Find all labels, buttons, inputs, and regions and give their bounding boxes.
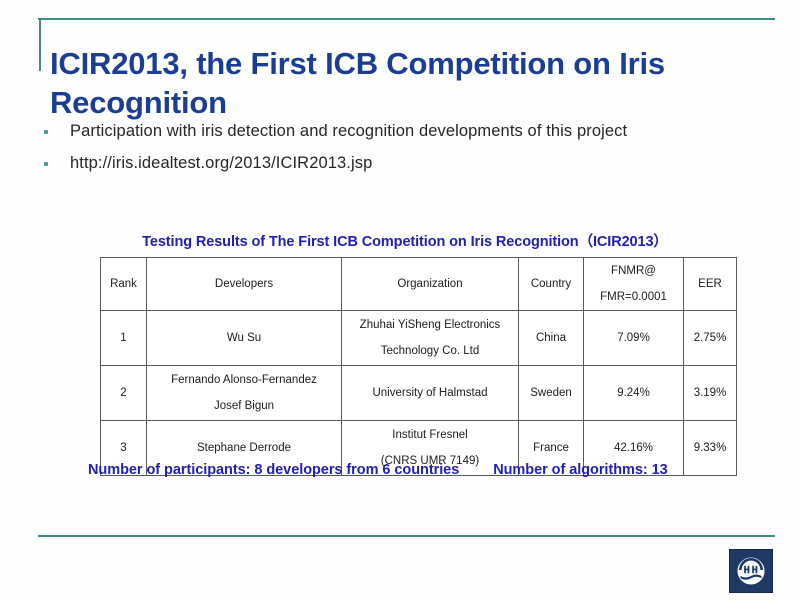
organization-line-1: University of Halmstad (344, 385, 516, 402)
table-header-row: Rank Developers Organization Country FNM… (101, 258, 737, 311)
bullet-dot-icon (44, 130, 48, 134)
developer-line-2: Josef Bigun (149, 398, 339, 415)
bullet-list: Participation with iris detection and re… (40, 120, 770, 184)
cell-fnmr: 7.09% (584, 311, 684, 366)
cell-rank: 1 (101, 311, 147, 366)
table-row: 1 Wu Su Zhuhai YiSheng Electronics Techn… (101, 311, 737, 366)
cell-developers: Wu Su (147, 311, 342, 366)
results-table: Rank Developers Organization Country FNM… (100, 257, 737, 476)
bottom-divider-rule (38, 535, 775, 537)
cell-organization: Zhuhai YiSheng Electronics Technology Co… (342, 311, 519, 366)
bullet-link-text[interactable]: http://iris.idealtest.org/2013/ICIR2013.… (70, 152, 770, 174)
column-header-country: Country (519, 258, 584, 311)
cell-fnmr: 9.24% (584, 366, 684, 421)
cell-developers: Fernando Alonso-Fernandez Josef Bigun (147, 366, 342, 421)
fnmr-header-line-2: FMR=0.0001 (586, 289, 681, 306)
cell-organization: University of Halmstad (342, 366, 519, 421)
slide-canvas: ICIR2013, the First ICB Competition on I… (0, 0, 800, 600)
university-crest-icon (730, 550, 772, 592)
halmstad-university-logo (729, 549, 773, 593)
developer-line-1: Stephane Derrode (149, 440, 339, 457)
column-header-rank: Rank (101, 258, 147, 311)
stat-algorithms: Number of algorithms: 13 (493, 462, 667, 478)
cell-eer: 2.75% (684, 311, 737, 366)
page-title: ICIR2013, the First ICB Competition on I… (50, 44, 760, 122)
column-header-developers: Developers (147, 258, 342, 311)
bullet-text: Participation with iris detection and re… (70, 120, 770, 142)
list-item: http://iris.idealtest.org/2013/ICIR2013.… (40, 152, 770, 176)
column-header-eer: EER (684, 258, 737, 311)
cell-country: China (519, 311, 584, 366)
title-accent-bar (39, 19, 41, 71)
bullet-dot-icon (44, 162, 48, 166)
developer-line-1: Wu Su (149, 330, 339, 347)
stat-participants: Number of participants: 8 developers fro… (88, 462, 459, 478)
list-item: Participation with iris detection and re… (40, 120, 770, 144)
organization-line-1: Institut Fresnel (344, 427, 516, 444)
column-header-organization: Organization (342, 258, 519, 311)
organization-line-2: Technology Co. Ltd (344, 343, 516, 360)
top-divider-rule (38, 18, 775, 20)
organization-line-1: Zhuhai YiSheng Electronics (344, 317, 516, 334)
summary-stats: Number of participants: 8 developers fro… (88, 462, 728, 478)
results-table-caption: Testing Results of The First ICB Competi… (100, 230, 710, 251)
cell-eer: 3.19% (684, 366, 737, 421)
column-header-fnmr: FNMR@ FMR=0.0001 (584, 258, 684, 311)
fnmr-header-line-1: FNMR@ (586, 263, 681, 280)
table-row: 2 Fernando Alonso-Fernandez Josef Bigun … (101, 366, 737, 421)
developer-line-1: Fernando Alonso-Fernandez (149, 372, 339, 389)
cell-rank: 2 (101, 366, 147, 421)
cell-country: Sweden (519, 366, 584, 421)
